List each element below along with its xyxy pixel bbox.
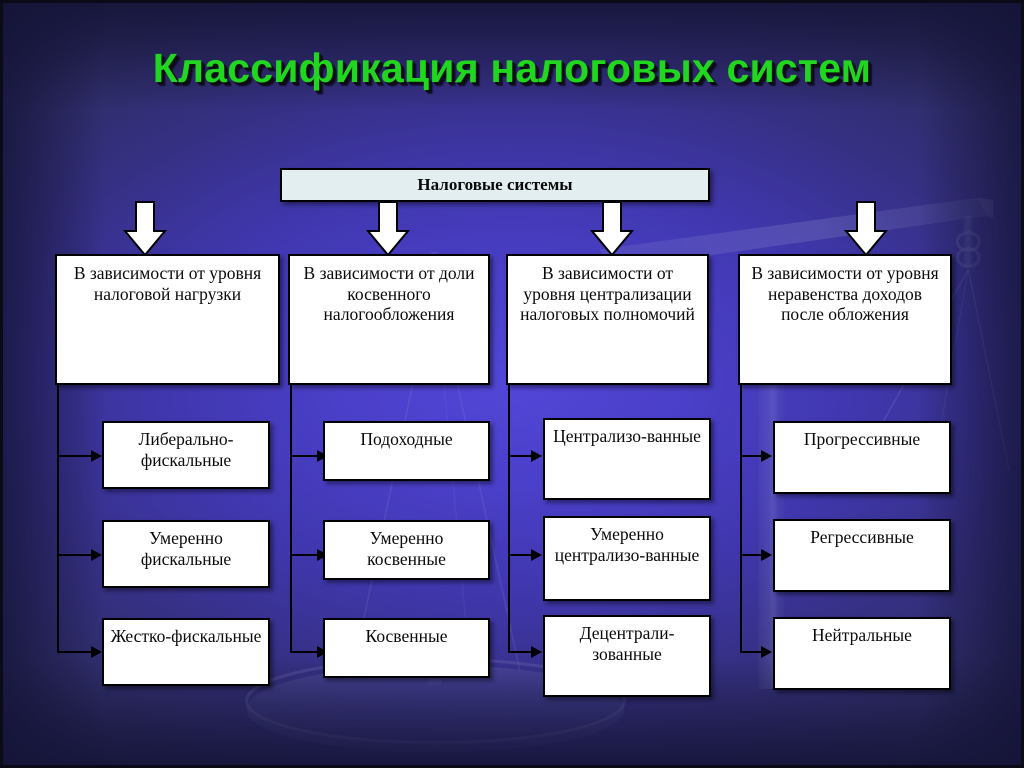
arrow-right-icon-col3-2 (761, 646, 772, 658)
category-label: В зависимости от уровня налоговой нагруз… (57, 256, 278, 304)
leaf-label: Умеренно централизо-ванные (545, 518, 709, 565)
block-arrow-down-icon-0 (123, 201, 167, 257)
leaf-box-col2-2[interactable]: Децентрали-зованные (543, 615, 711, 697)
arrow-right-icon-col0-1 (91, 549, 102, 561)
block-arrow-down-icon-2 (590, 201, 634, 257)
connector-vline-col2 (508, 385, 510, 651)
leaf-label: Прогрессивные (775, 423, 949, 450)
category-box-tax-burden[interactable]: В зависимости от уровня налоговой нагруз… (55, 254, 280, 385)
leaf-label: Косвенные (325, 620, 488, 647)
arrow-right-icon-col2-0 (531, 450, 542, 462)
leaf-label: Децентрали-зованные (545, 617, 709, 664)
category-box-indirect-share[interactable]: В зависимости от доли косвенного налогоо… (288, 254, 490, 385)
root-node-tax-systems[interactable]: Налоговые системы (280, 168, 710, 202)
presentation-slide: Классификация налоговых систем Налоговые… (0, 0, 1024, 768)
category-box-centralization[interactable]: В зависимости от уровня централизации на… (506, 254, 709, 385)
leaf-label: Жестко-фискальные (104, 620, 268, 647)
leaf-label: Умеренно фискальные (104, 522, 268, 569)
leaf-label: Регрессивные (775, 521, 949, 548)
arrow-right-icon-col2-1 (531, 549, 542, 561)
arrow-right-icon-col0-0 (91, 450, 102, 462)
leaf-box-col2-0[interactable]: Централизо-ванные (543, 418, 711, 500)
arrow-right-icon-col2-2 (531, 646, 542, 658)
category-box-income-inequality[interactable]: В зависимости от уровня неравенства дохо… (738, 254, 952, 385)
category-label: В зависимости от доли косвенного налогоо… (290, 256, 488, 325)
leaf-box-col1-0[interactable]: Подоходные (323, 421, 490, 481)
block-arrow-down-icon-1 (366, 201, 410, 257)
leaf-box-col0-1[interactable]: Умеренно фискальные (102, 520, 270, 588)
root-node-label: Налоговые системы (417, 175, 572, 195)
leaf-label: Либерально-фискальные (104, 423, 268, 470)
leaf-box-col1-2[interactable]: Косвенные (323, 618, 490, 678)
leaf-label: Нейтральные (775, 619, 949, 646)
leaf-label: Умеренно косвенные (325, 522, 488, 569)
connector-vline-col1 (290, 385, 292, 651)
leaf-box-col2-1[interactable]: Умеренно централизо-ванные (543, 516, 711, 601)
leaf-label: Подоходные (325, 423, 488, 450)
connector-vline-col3 (740, 385, 742, 651)
page-title: Классификация налоговых систем (3, 45, 1021, 92)
leaf-box-col3-0[interactable]: Прогрессивные (773, 421, 951, 494)
leaf-label: Централизо-ванные (545, 420, 709, 447)
leaf-box-col0-2[interactable]: Жестко-фискальные (102, 618, 270, 686)
leaf-box-col3-1[interactable]: Регрессивные (773, 519, 951, 592)
connector-vline-col0 (57, 385, 59, 651)
arrow-right-icon-col3-0 (761, 450, 772, 462)
block-arrow-down-icon-3 (844, 201, 888, 257)
leaf-box-col1-1[interactable]: Умеренно косвенные (323, 520, 490, 580)
arrow-right-icon-col3-1 (761, 549, 772, 561)
arrow-right-icon-col0-2 (91, 646, 102, 658)
leaf-box-col0-0[interactable]: Либерально-фискальные (102, 421, 270, 489)
category-label: В зависимости от уровня централизации на… (508, 256, 707, 325)
leaf-box-col3-2[interactable]: Нейтральные (773, 617, 951, 690)
category-label: В зависимости от уровня неравенства дохо… (740, 256, 950, 325)
